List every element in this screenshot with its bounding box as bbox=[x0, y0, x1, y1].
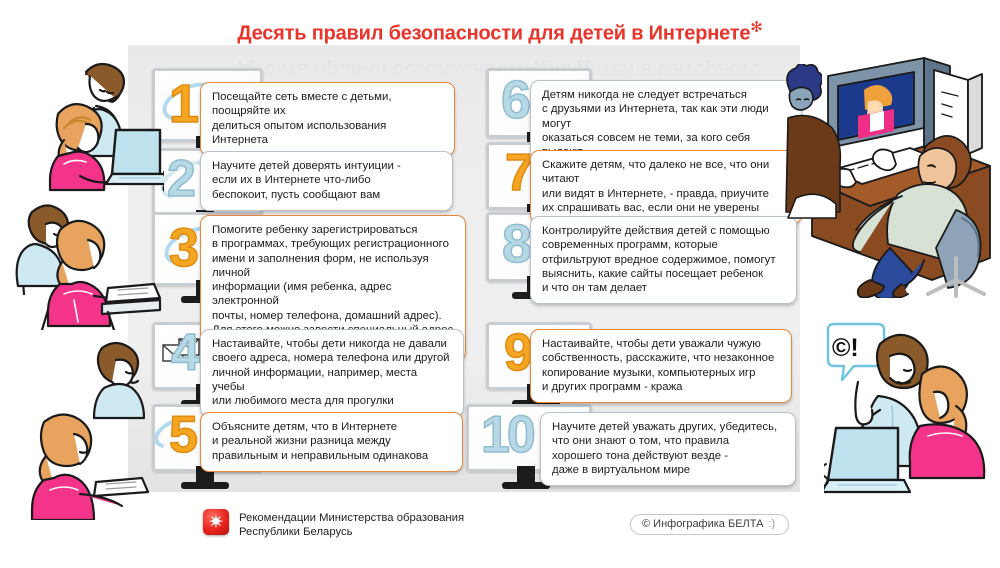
speech-bubble-text: ©! bbox=[832, 334, 859, 362]
source-attribution: Рекомендации Министерства образования Ре… bbox=[239, 511, 464, 539]
rule-text-4: Настаивайте, чтобы дети никогда не давал… bbox=[212, 337, 452, 408]
monitor-5-base bbox=[181, 482, 229, 489]
rule-callout-9[interactable]: Настаивайте, чтобы дети уважали чужую со… bbox=[530, 329, 792, 403]
rule-text-1: Посещайте сеть вместе с детьми, поощряйт… bbox=[212, 90, 443, 147]
rule-text-2: Научите детей доверять интуиции - если и… bbox=[212, 159, 441, 202]
rule-number-10: 10 bbox=[481, 409, 533, 461]
illustration-parent-child-desk bbox=[12, 200, 162, 330]
rule-text-8: Контролируйте действия детей с помощью с… bbox=[542, 224, 785, 295]
monitor-10-stand bbox=[517, 466, 535, 482]
rule-text-9: Настаивайте, чтобы дети уважали чужую со… bbox=[542, 337, 780, 394]
illustration-figure-shoulder bbox=[782, 110, 842, 220]
illustration-parent-child-laptop bbox=[24, 52, 164, 192]
title-block: Десять правил безопасности для детей в И… bbox=[0, 18, 1000, 46]
rule-callout-5[interactable]: Объясните детям, что в Интернете и реаль… bbox=[200, 412, 463, 472]
rule-number-2: 2 bbox=[167, 153, 196, 205]
page-title-text: Десять правил безопасности для детей в И… bbox=[237, 23, 750, 45]
rule-text-7: Скажите детям, что далеко не все, что он… bbox=[542, 158, 790, 215]
rule-callout-7[interactable]: Скажите детям, что далеко не все, что он… bbox=[530, 150, 802, 224]
rule-text-6: Детям никогда не следует встречаться с д… bbox=[542, 88, 790, 159]
rule-number-3: 3 bbox=[169, 221, 199, 275]
rule-text-10: Научите детей уважать других, убедитесь,… bbox=[552, 420, 784, 477]
illustration-girl-reading bbox=[18, 410, 158, 520]
rule-callout-4[interactable]: Настаивайте, чтобы дети никогда не давал… bbox=[200, 329, 464, 417]
page-title: Десять правил безопасности для детей в И… bbox=[237, 18, 762, 46]
belta-smiley-icon: :) bbox=[768, 518, 775, 530]
belta-credit-text: © Инфографика БЕЛТА bbox=[642, 518, 763, 530]
rule-callout-1[interactable]: Посещайте сеть вместе с детьми, поощряйт… bbox=[200, 82, 455, 156]
illustration-copyright-lesson: ©! bbox=[824, 322, 1000, 502]
belta-credit-badge: © Инфографика БЕЛТА:) bbox=[630, 514, 789, 535]
ministry-logo-star-icon: ✷ bbox=[203, 509, 229, 535]
rule-callout-2[interactable]: Научите детей доверять интуиции - если и… bbox=[200, 151, 453, 211]
infographic-canvas: Десять правил безопасности для детей в И… bbox=[0, 0, 1000, 568]
rule-number-6: 6 bbox=[501, 73, 531, 127]
rule-number-1: 1 bbox=[169, 77, 199, 131]
title-star-icon: ✻ bbox=[750, 19, 762, 36]
rule-callout-10[interactable]: Научите детей уважать других, убедитесь,… bbox=[540, 412, 796, 486]
rule-number-8: 8 bbox=[502, 217, 532, 271]
rule-callout-8[interactable]: Контролируйте действия детей с помощью с… bbox=[530, 216, 797, 304]
rule-text-5: Объясните детям, что в Интернете и реаль… bbox=[212, 420, 451, 463]
illustration-boy-monitor bbox=[86, 340, 170, 420]
rule-number-4: 4 bbox=[171, 327, 200, 379]
rule-number-9: 9 bbox=[504, 327, 533, 379]
rule-number-5: 5 bbox=[169, 409, 198, 461]
ministry-logo: ✷ bbox=[203, 509, 229, 535]
